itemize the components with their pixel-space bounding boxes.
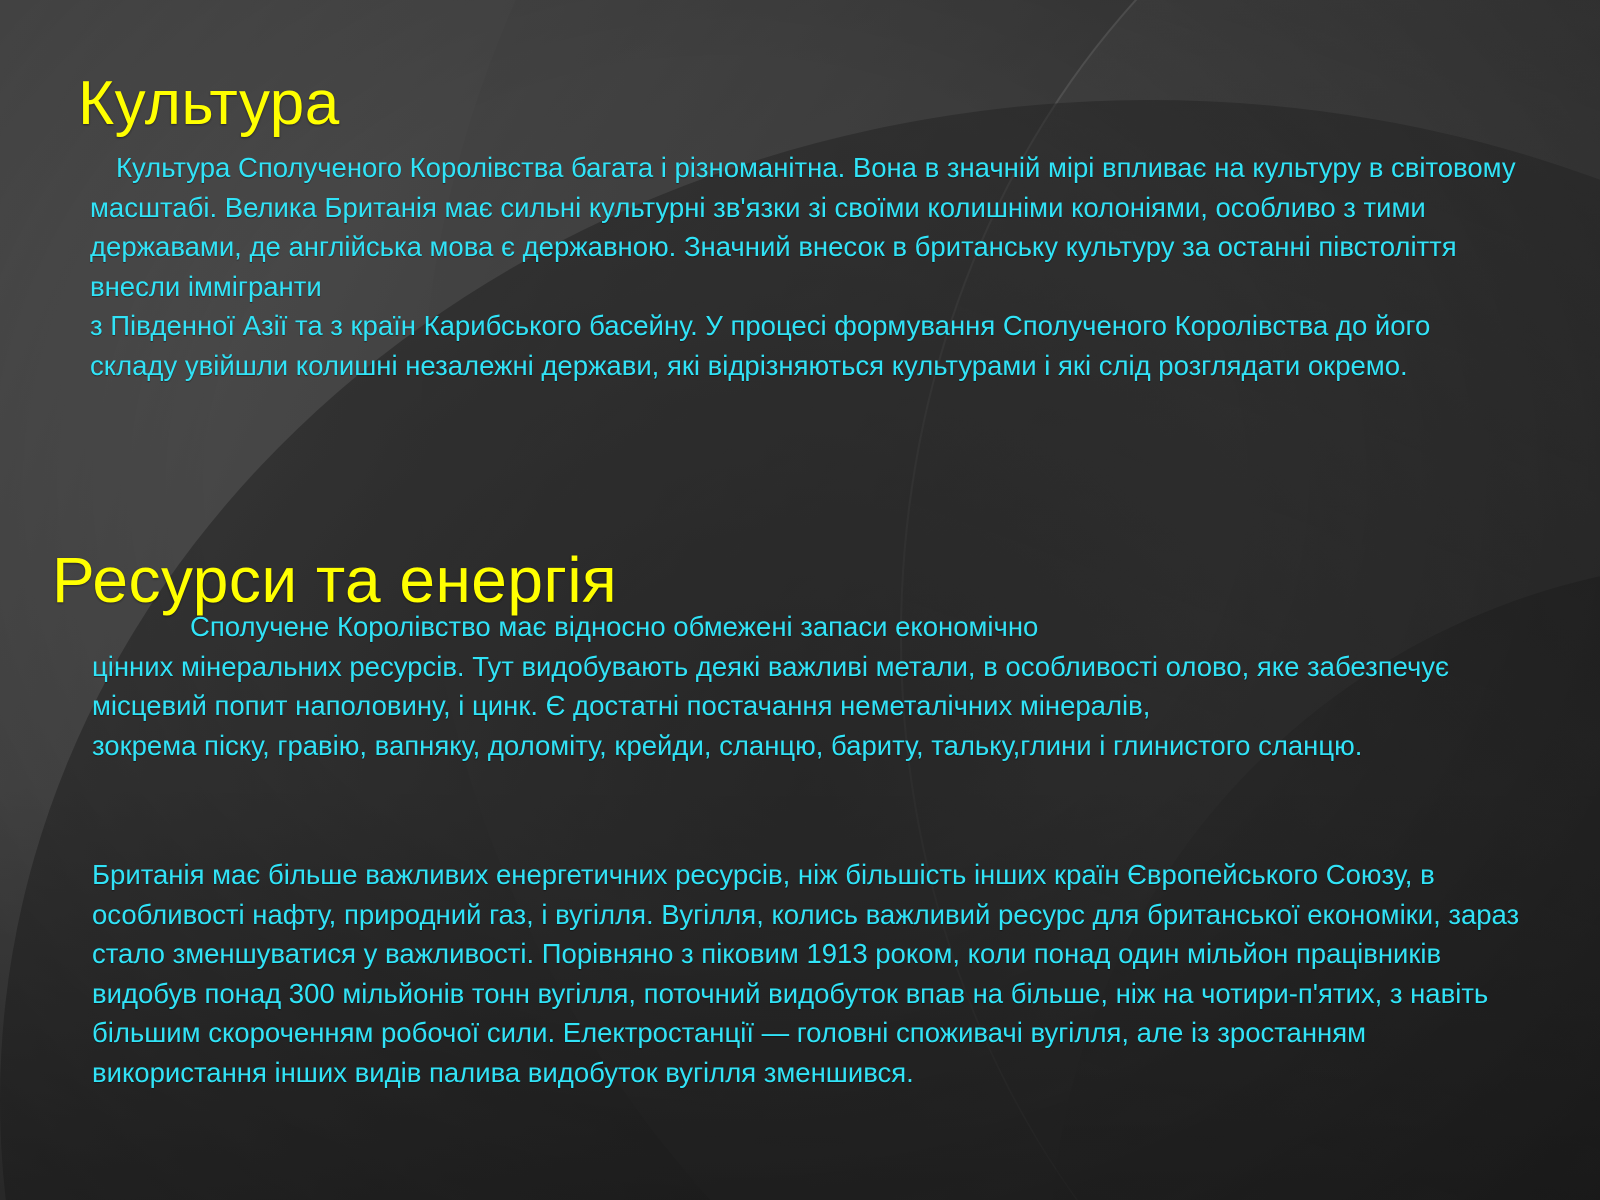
slide-content: Культура Культура Сполученого Королівств… xyxy=(0,0,1600,1200)
heading-culture: Культура xyxy=(78,68,340,140)
heading-resources-and-energy: Ресурси та енергія xyxy=(52,543,617,617)
paragraph-energy-resources: Британія має більше важливих енергетични… xyxy=(92,855,1540,1092)
presentation-slide: Культура Культура Сполученого Королівств… xyxy=(0,0,1600,1200)
paragraph-culture: Культура Сполученого Королівства багата … xyxy=(90,148,1525,385)
paragraph-mineral-resources: Сполучене Королівство має відносно обмеж… xyxy=(92,607,1522,765)
